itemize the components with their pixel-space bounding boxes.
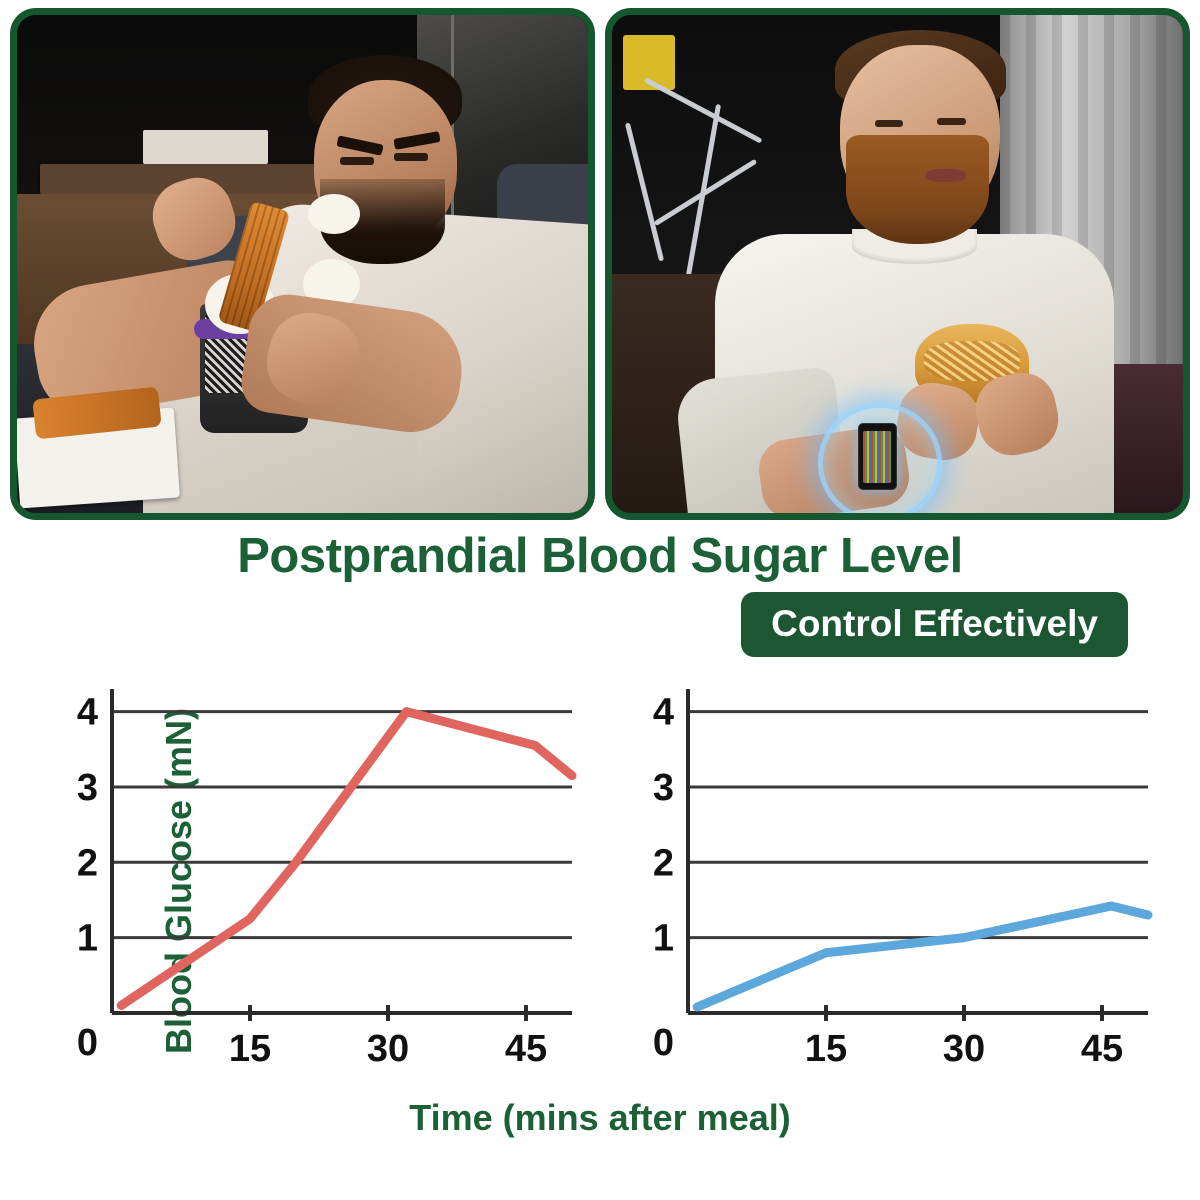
plot-area-left: 15304501234 <box>60 671 580 1091</box>
line-chart-svg-right: 15304501234 <box>636 671 1156 1091</box>
x-axis-label: Time (mins after meal) <box>0 1097 1200 1139</box>
eye-left <box>875 120 904 127</box>
smartwatch-screen <box>863 431 891 483</box>
svg-text:30: 30 <box>943 1028 985 1070</box>
eye-right <box>937 118 966 125</box>
svg-text:15: 15 <box>805 1028 847 1070</box>
svg-text:4: 4 <box>653 692 674 734</box>
badge-row: Control Effectively <box>0 592 1200 657</box>
svg-text:4: 4 <box>77 692 98 734</box>
charts-row: Blood Glucose (mN) 15304501234 153045012… <box>0 671 1200 1091</box>
svg-text:45: 45 <box>1081 1028 1123 1070</box>
svg-text:1: 1 <box>77 918 98 960</box>
photo-inner-left <box>17 15 588 513</box>
chart-with-control: 15304501234 <box>600 671 1200 1091</box>
photo-inner-right <box>612 15 1183 513</box>
svg-text:0: 0 <box>653 1022 674 1064</box>
svg-text:1: 1 <box>653 918 674 960</box>
photo-man-eating-churros <box>10 8 595 520</box>
chart-without-control: Blood Glucose (mN) 15304501234 <box>0 671 600 1091</box>
photo-man-eating-burger-with-smartwatch <box>605 8 1190 520</box>
svg-text:3: 3 <box>77 767 98 809</box>
bike-tube-3 <box>686 104 721 276</box>
eye-right <box>394 153 428 161</box>
eye-left <box>340 157 374 165</box>
svg-text:30: 30 <box>367 1028 409 1070</box>
smartwatch <box>858 423 897 490</box>
svg-text:2: 2 <box>653 842 674 884</box>
plot-area-right: 15304501234 <box>636 671 1156 1091</box>
control-effectively-badge: Control Effectively <box>741 592 1128 657</box>
svg-text:0: 0 <box>77 1022 98 1064</box>
svg-text:3: 3 <box>653 767 674 809</box>
bike-tube-1 <box>644 77 763 144</box>
mouth <box>926 169 966 182</box>
svg-text:45: 45 <box>505 1028 547 1070</box>
page-title: Postprandial Blood Sugar Level <box>0 528 1200 584</box>
beard <box>846 135 989 245</box>
whipped-cream-c <box>308 194 359 234</box>
svg-text:15: 15 <box>229 1028 271 1070</box>
bike-tube-4 <box>625 123 664 262</box>
line-chart-svg-left: 15304501234 <box>60 671 580 1091</box>
white-box-on-shelf <box>143 130 269 165</box>
svg-text:2: 2 <box>77 842 98 884</box>
photo-row <box>0 0 1200 520</box>
